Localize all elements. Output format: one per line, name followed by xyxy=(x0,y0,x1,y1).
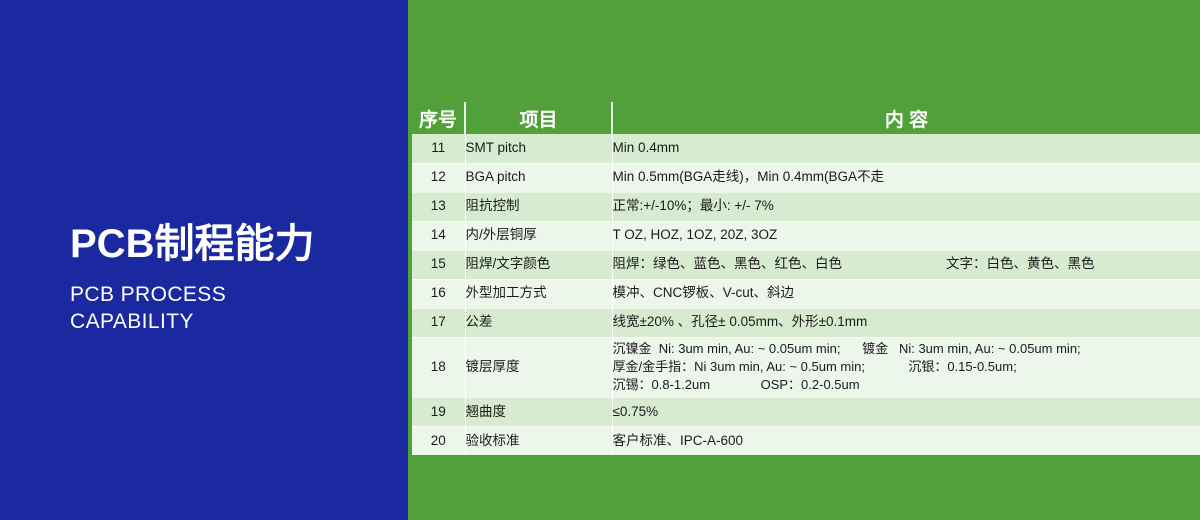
row-content: 沉镍金 Ni: 3um min, Au: ~ 0.05um min; 镀金 Ni… xyxy=(612,337,1200,397)
row-item: 阻抗控制 xyxy=(465,192,612,221)
row-number: 12 xyxy=(412,163,465,192)
table-row: 20 验收标准 客户标准、IPC-A-600 xyxy=(412,426,1200,455)
page-title: PCB制程能力 xyxy=(70,222,400,266)
row-number: 15 xyxy=(412,250,465,279)
column-header-item: 项目 xyxy=(465,102,612,134)
row-content: 客户标准、IPC-A-600 xyxy=(612,426,1200,455)
row-item: BGA pitch xyxy=(465,163,612,192)
left-title-panel: PCB制程能力 PCB PROCESS CAPABILITY xyxy=(0,0,408,520)
page-subtitle-line-2: CAPABILITY xyxy=(70,309,400,336)
row-number: 18 xyxy=(412,337,465,397)
table-row: 16 外型加工方式 模冲、CNC锣板、V-cut、斜边 xyxy=(412,279,1200,308)
table-header-row: 序号 项目 内 容 xyxy=(412,102,1200,134)
title-block: PCB制程能力 PCB PROCESS CAPABILITY xyxy=(70,222,400,336)
row-item: 镀层厚度 xyxy=(465,337,612,397)
page-subtitle: PCB PROCESS CAPABILITY xyxy=(70,282,400,336)
row-item: 翘曲度 xyxy=(465,397,612,426)
row-item: 内/外层铜厚 xyxy=(465,221,612,250)
table-row: 17 公差 线宽±20% 、孔径± 0.05mm、外形±0.1mm xyxy=(412,308,1200,337)
row-item: 阻焊/文字颜色 xyxy=(465,250,612,279)
row-content: T OZ, HOZ, 1OZ, 20Z, 3OZ xyxy=(612,221,1200,250)
row-number: 14 xyxy=(412,221,465,250)
solder-mask-colors: 阻焊：绿色、蓝色、黑色、红色、白色 xyxy=(613,255,843,273)
plating-line-2: 厚金/金手指：Ni 3um min, Au: ~ 0.5um min; 沉银：0… xyxy=(613,358,1200,376)
plating-line-3: 沉锡：0.8-1.2um OSP：0.2-0.5um xyxy=(613,376,1200,394)
table-row: 18 镀层厚度 沉镍金 Ni: 3um min, Au: ~ 0.05um mi… xyxy=(412,337,1200,397)
row-number: 13 xyxy=(412,192,465,221)
row-item: 外型加工方式 xyxy=(465,279,612,308)
row-number: 11 xyxy=(412,134,465,163)
pcb-spec-table: 序号 项目 内 容 11 SMT pitch Min 0.4mm 12 BGA … xyxy=(412,102,1200,455)
table-row: 13 阻抗控制 正常:+/-10%；最小: +/- 7% xyxy=(412,192,1200,221)
row-content: ≤0.75% xyxy=(612,397,1200,426)
column-header-content: 内 容 xyxy=(612,102,1200,134)
table-row: 14 内/外层铜厚 T OZ, HOZ, 1OZ, 20Z, 3OZ xyxy=(412,221,1200,250)
silkscreen-colors: 文字：白色、黄色、黑色 xyxy=(946,255,1095,273)
spec-table-container: 序号 项目 内 容 11 SMT pitch Min 0.4mm 12 BGA … xyxy=(412,102,1200,455)
row-content: 阻焊：绿色、蓝色、黑色、红色、白色 文字：白色、黄色、黑色 xyxy=(612,250,1200,279)
row-content: Min 0.4mm xyxy=(612,134,1200,163)
row-content: 线宽±20% 、孔径± 0.05mm、外形±0.1mm xyxy=(612,308,1200,337)
slide-canvas: PCB制程能力 PCB PROCESS CAPABILITY 序号 项目 内 容 xyxy=(0,0,1200,520)
row-number: 16 xyxy=(412,279,465,308)
row-content: Min 0.5mm(BGA走线)，Min 0.4mm(BGA不走 xyxy=(612,163,1200,192)
row-item: 公差 xyxy=(465,308,612,337)
row-content: 模冲、CNC锣板、V-cut、斜边 xyxy=(612,279,1200,308)
row-item: SMT pitch xyxy=(465,134,612,163)
table-row: 19 翘曲度 ≤0.75% xyxy=(412,397,1200,426)
table-row: 11 SMT pitch Min 0.4mm xyxy=(412,134,1200,163)
column-header-no: 序号 xyxy=(412,102,465,134)
table-row: 12 BGA pitch Min 0.5mm(BGA走线)，Min 0.4mm(… xyxy=(412,163,1200,192)
table-row: 15 阻焊/文字颜色 阻焊：绿色、蓝色、黑色、红色、白色 文字：白色、黄色、黑色 xyxy=(412,250,1200,279)
row-content: 正常:+/-10%；最小: +/- 7% xyxy=(612,192,1200,221)
row-number: 20 xyxy=(412,426,465,455)
plating-line-1: 沉镍金 Ni: 3um min, Au: ~ 0.05um min; 镀金 Ni… xyxy=(613,340,1200,358)
row-number: 17 xyxy=(412,308,465,337)
page-subtitle-line-1: PCB PROCESS xyxy=(70,282,400,309)
row-number: 19 xyxy=(412,397,465,426)
row-item: 验收标准 xyxy=(465,426,612,455)
